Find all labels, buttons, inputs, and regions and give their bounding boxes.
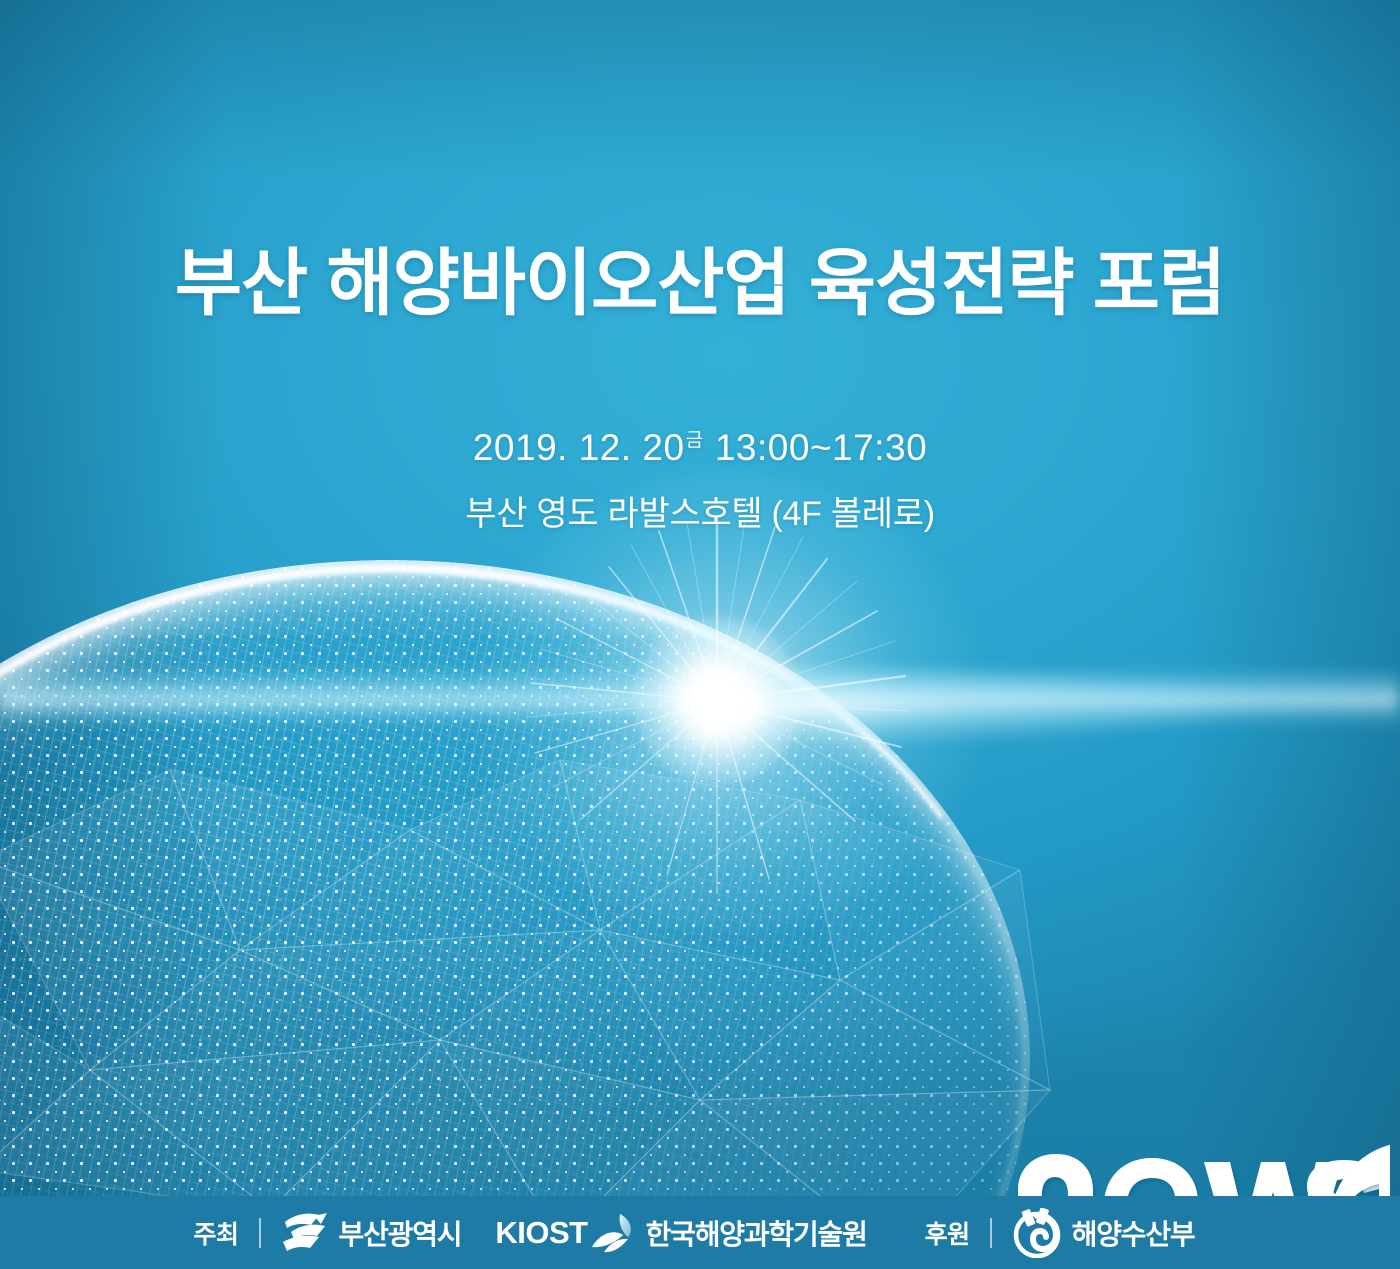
sponsor-label: 후원 <box>925 1215 970 1251</box>
host-label: 주최 <box>194 1215 239 1251</box>
org-busan-name: 부산광역시 <box>339 1213 462 1253</box>
org-kiost-name: 한국해양과학기술원 <box>646 1213 867 1253</box>
footer-divider <box>259 1218 261 1248</box>
org-ministry-oceans-fisheries: 해양수산부 <box>1012 1208 1195 1258</box>
page-title: 부산 해양바이오산업 육성전략 포럼 <box>0 243 1400 325</box>
event-venue: 부산 영도 라발스호텔 (4F 볼레로) <box>0 486 1400 535</box>
org-kiost: KIOST 한국해양과학기술원 <box>495 1213 866 1253</box>
light-burst-core <box>632 616 802 786</box>
event-datetime: 2019. 12. 20금 13:00~17:30 <box>0 425 1400 469</box>
event-poster: 부산 해양바이오산업 육성전략 포럼 2019. 12. 20금 13:00~1… <box>0 0 1400 1269</box>
sponsor-footer-bar: 주최 부산광역시 <box>0 1196 1400 1269</box>
event-day-of-week: 금 <box>686 430 703 451</box>
org-busan-metropolitan-city: 부산광역시 <box>281 1212 462 1254</box>
korea-taegeuk-emblem-icon <box>1012 1208 1062 1258</box>
event-time-range: 13:00~17:30 <box>715 427 927 468</box>
kiost-acronym: KIOST <box>495 1215 587 1251</box>
busan-wave-logo-icon <box>281 1212 329 1254</box>
kiost-leaf-logo-icon <box>590 1213 636 1253</box>
footer-divider-2 <box>990 1218 992 1248</box>
event-date: 2019. 12. 20 <box>473 427 685 468</box>
org-mof-name: 해양수산부 <box>1072 1213 1195 1253</box>
